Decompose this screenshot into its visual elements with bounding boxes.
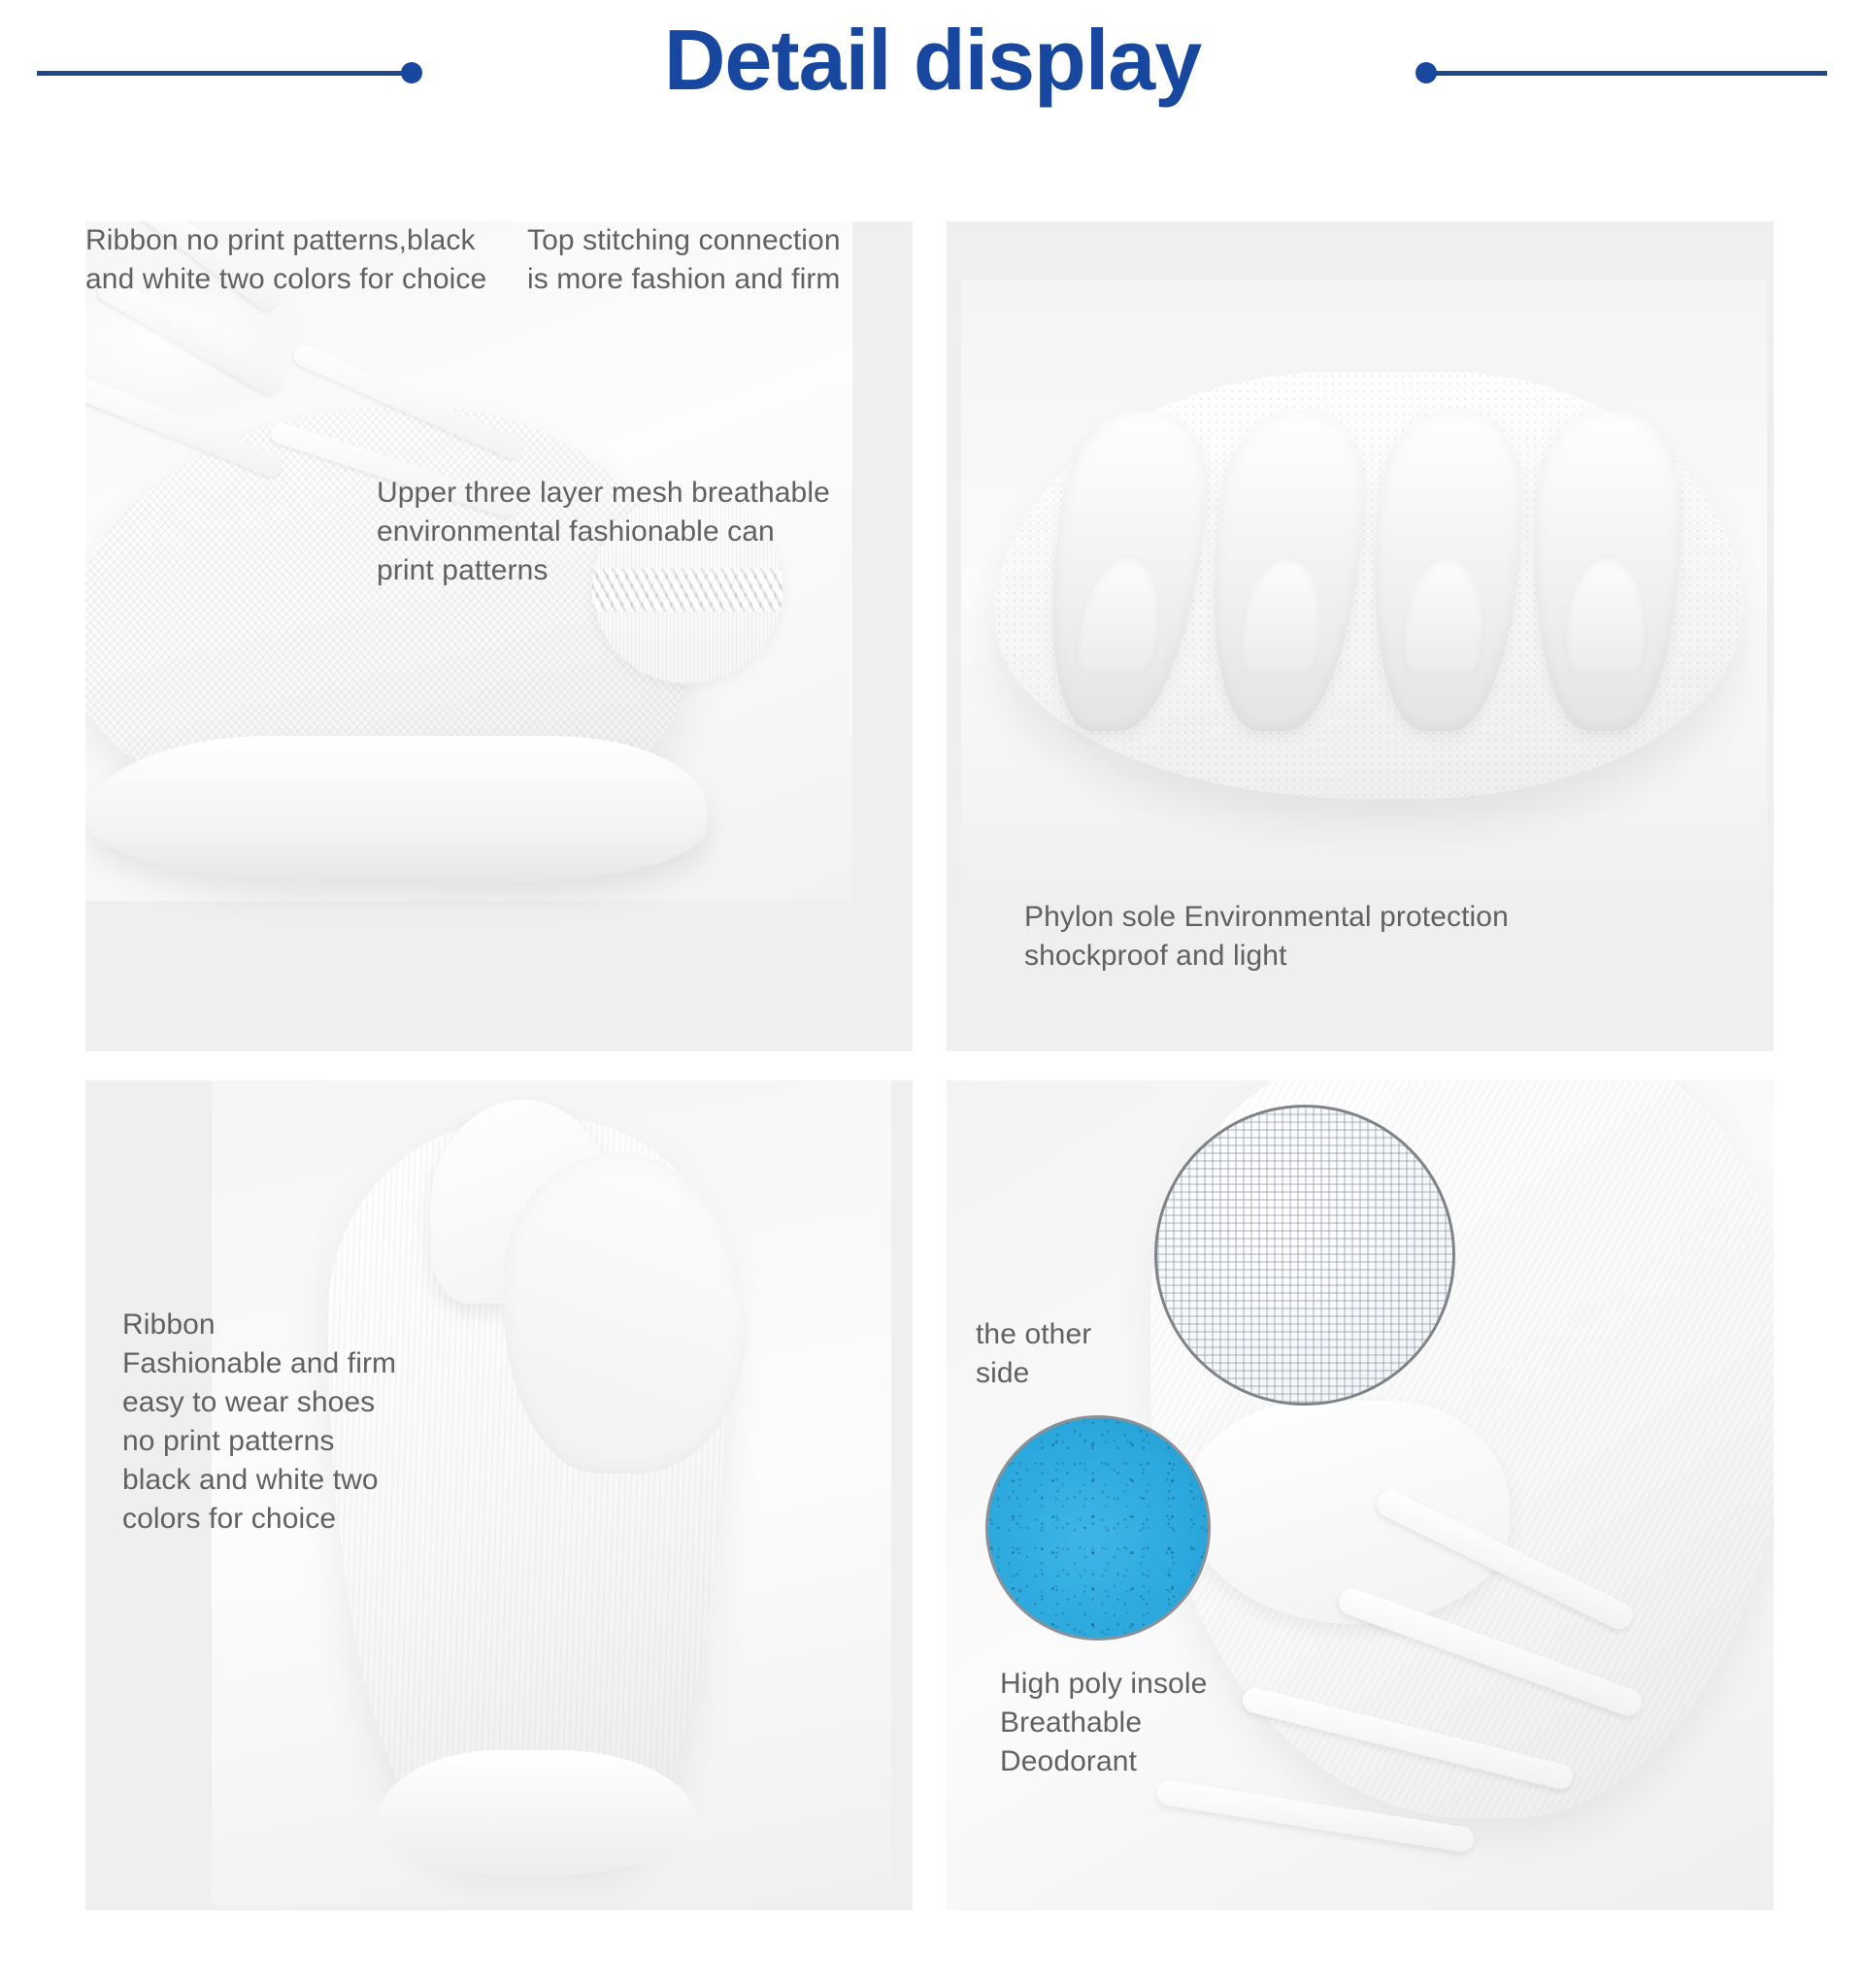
mesh-macro-circle-icon bbox=[1154, 1105, 1455, 1406]
tread-notch bbox=[1563, 555, 1649, 672]
callout-top-stitching: Top stitching connection is more fashion… bbox=[527, 221, 841, 299]
callout-upper-mesh: Upper three layer mesh breathable enviro… bbox=[377, 474, 913, 590]
header-dot-right bbox=[1415, 62, 1437, 83]
tread-notch bbox=[1072, 555, 1170, 672]
page-header: Detail display bbox=[0, 0, 1865, 155]
heel-collar-shape bbox=[503, 1153, 746, 1474]
callout-phylon-sole: Phylon sole Environmental protection sho… bbox=[1024, 898, 1762, 976]
shoe-midsole-shape bbox=[85, 736, 707, 881]
callout-other-side: the other side bbox=[976, 1315, 1199, 1393]
foam-macro-circle-icon bbox=[985, 1415, 1211, 1640]
panel-heel-ribbon: Ribbon Fashionable and firm easy to wear… bbox=[85, 1080, 913, 1910]
tread-notch bbox=[1236, 555, 1329, 672]
heel-sole-shape bbox=[377, 1750, 697, 1876]
outsole-photo bbox=[961, 280, 1767, 901]
outsole-shape bbox=[995, 372, 1743, 799]
detail-display-page: Detail display Upper three layer mesh br… bbox=[0, 0, 1865, 1988]
panel-phylon-sole: Phylon sole Environmental protection sho… bbox=[947, 221, 1774, 1051]
tread-notch bbox=[1400, 555, 1489, 672]
panel-insole: the other side High poly insole Breathab… bbox=[947, 1080, 1774, 1910]
page-title: Detail display bbox=[0, 8, 1865, 113]
header-rule-right bbox=[1419, 71, 1827, 76]
callout-high-poly-insole: High poly insole Breathable Deodorant bbox=[1000, 1665, 1330, 1781]
callout-ribbon-colors: Ribbon no print patterns,black and white… bbox=[85, 221, 486, 299]
foam-speckle-texture bbox=[988, 1418, 1208, 1638]
callout-ribbon-detail: Ribbon Fashionable and firm easy to wear… bbox=[122, 1306, 511, 1539]
panel-upper-mesh: Upper three layer mesh breathable enviro… bbox=[85, 221, 913, 1051]
